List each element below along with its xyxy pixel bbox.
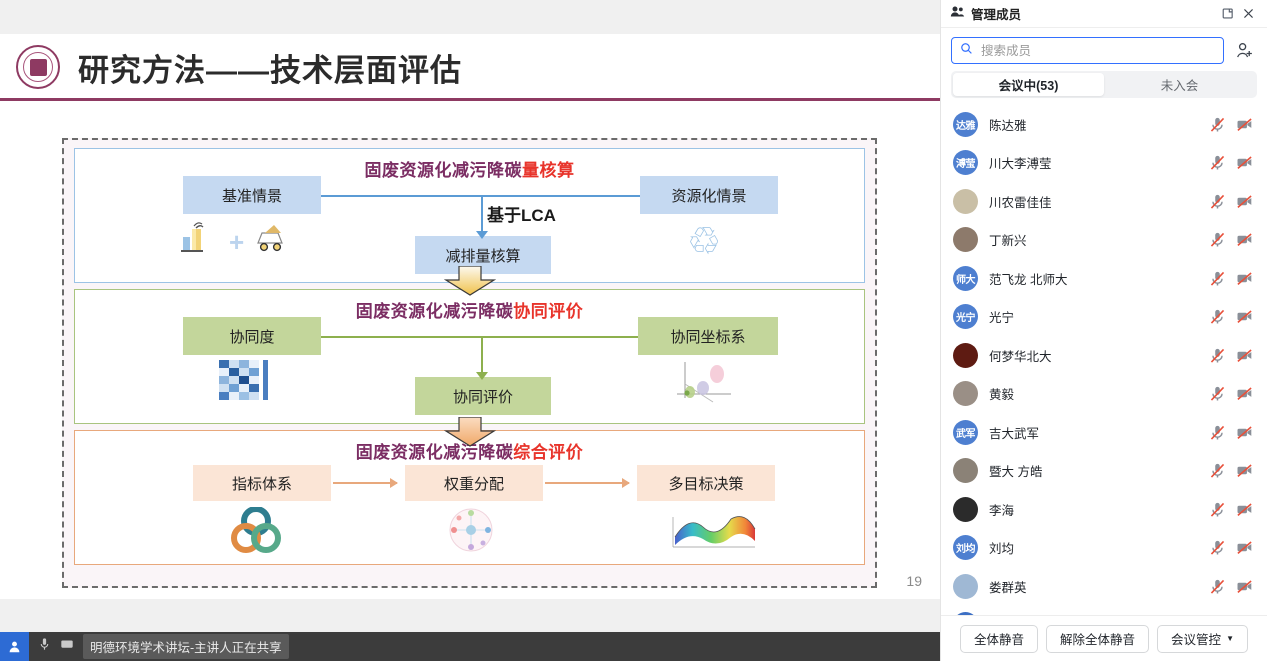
search-box[interactable]: [951, 37, 1224, 64]
participant-row[interactable]: 暨大 方皓: [941, 452, 1267, 491]
participants-panel: 管理成员: [940, 0, 1267, 661]
connector-arrow-1: [444, 266, 496, 296]
participant-row[interactable]: 光宁光宁: [941, 298, 1267, 337]
participant-controls: [1209, 347, 1253, 364]
participant-controls: [1209, 539, 1253, 556]
avatar: 武军: [953, 420, 978, 445]
participant-row[interactable]: 武军吉大武军: [941, 413, 1267, 452]
panel-header: 管理成员: [941, 0, 1267, 28]
avatar: [953, 497, 978, 522]
microphone-muted-icon[interactable]: [1209, 501, 1226, 518]
node-baseline-scenario: 基准情景: [183, 176, 321, 214]
participant-controls: [1209, 308, 1253, 325]
node-multi-objective-decision: 多目标决策: [637, 465, 775, 501]
camera-off-icon[interactable]: [1236, 308, 1253, 325]
section3-arrow-1: [333, 482, 397, 484]
camera-off-icon[interactable]: [1236, 578, 1253, 595]
participant-name: 李海: [989, 500, 1209, 519]
participant-name: 何梦华北大: [989, 346, 1209, 365]
microphone-muted-icon[interactable]: [1209, 385, 1226, 402]
participant-controls: [1209, 385, 1253, 402]
meeting-window: 研究方法——技术层面评估 固废资源化减污降碳量核算 基准情景 资源化情景 减排量…: [0, 0, 1267, 661]
add-person-icon[interactable]: [1231, 38, 1257, 64]
avatar: [953, 381, 978, 406]
microphone-muted-icon[interactable]: [1209, 231, 1226, 248]
chevron-down-icon: ▼: [1226, 635, 1234, 643]
section2-vertical-connector: [481, 336, 483, 377]
participant-name: 光宁: [989, 307, 1209, 326]
participant-row[interactable]: 达雅陈达雅: [941, 105, 1267, 144]
participant-row[interactable]: [941, 606, 1267, 616]
panel-title: 管理成员: [971, 4, 1021, 23]
search-input[interactable]: [979, 43, 1215, 59]
camera-off-icon[interactable]: [1236, 231, 1253, 248]
panel-footer: 全体静音 解除全体静音 会议管控 ▼: [941, 615, 1267, 661]
node-synergy-degree: 协同度: [183, 317, 321, 355]
pop-out-icon[interactable]: [1218, 4, 1238, 24]
node-recycling-scenario: 资源化情景: [640, 176, 778, 214]
microphone-muted-icon[interactable]: [1209, 154, 1226, 171]
slide-header: 研究方法——技术层面评估: [0, 34, 940, 100]
avatar: 光宁: [953, 304, 978, 329]
avatar: 刘均: [953, 535, 978, 560]
participant-controls: [1209, 578, 1253, 595]
section1-vertical-connector: [481, 195, 483, 236]
camera-off-icon[interactable]: [1236, 501, 1253, 518]
participant-name: 范飞龙 北师大: [989, 269, 1209, 288]
node-weight-allocation: 权重分配: [405, 465, 543, 501]
participant-row[interactable]: 娄群英: [941, 567, 1267, 606]
avatar: 溥莹: [953, 150, 978, 175]
microphone-muted-icon[interactable]: [1209, 308, 1226, 325]
node-synergy-coordinate-system: 协同坐标系: [638, 317, 778, 355]
participant-name: 陈达雅: [989, 115, 1209, 134]
connector-arrow-2: [444, 417, 496, 447]
slide-page-number: 19: [906, 573, 922, 589]
camera-off-icon[interactable]: [1236, 539, 1253, 556]
user-icon[interactable]: [0, 632, 29, 661]
microphone-muted-icon[interactable]: [1209, 424, 1226, 441]
participant-row[interactable]: 丁新兴: [941, 221, 1267, 260]
avatar: 师大: [953, 266, 978, 291]
participant-controls: [1209, 231, 1253, 248]
participant-controls: [1209, 154, 1253, 171]
shared-screen-area: 研究方法——技术层面评估 固废资源化减污降碳量核算 基准情景 资源化情景 减排量…: [0, 0, 940, 661]
meeting-control-label: 会议管控: [1171, 629, 1221, 648]
participant-row[interactable]: 何梦华北大: [941, 336, 1267, 375]
participant-controls: [1209, 501, 1253, 518]
microphone-muted-icon[interactable]: [1209, 539, 1226, 556]
heatmap-matrix-icon: [217, 358, 275, 411]
page-title: 研究方法——技术层面评估: [78, 45, 462, 90]
participant-list[interactable]: 达雅陈达雅溥莹川大李溥莹川农雷佳佳丁新兴师大范飞龙 北师大光宁光宁何梦华北大黄毅…: [941, 102, 1267, 615]
slide-canvas: 研究方法——技术层面评估 固废资源化减污降碳量核算 基准情景 资源化情景 减排量…: [0, 34, 940, 599]
node-synergy-assessment: 协同评价: [415, 377, 551, 415]
microphone-muted-icon[interactable]: [1209, 116, 1226, 133]
recycle-icon: ♲: [687, 223, 721, 261]
section3-arrow-2: [545, 482, 629, 484]
participant-row[interactable]: 溥莹川大李溥莹: [941, 144, 1267, 183]
participant-name: 川大李溥莹: [989, 153, 1209, 172]
participant-row[interactable]: 川农雷佳佳: [941, 182, 1267, 221]
unmute-all-button[interactable]: 解除全体静音: [1046, 625, 1149, 653]
edge-label-lca: 基于LCA: [487, 201, 556, 226]
participant-row[interactable]: 刘均刘均: [941, 529, 1267, 568]
avatar: [953, 612, 978, 615]
avatar: [953, 343, 978, 368]
camera-off-icon[interactable]: [1236, 462, 1253, 479]
participant-name: 川农雷佳佳: [989, 192, 1209, 211]
camera-off-icon[interactable]: [1236, 424, 1253, 441]
surface-3d-plot-icon: [665, 507, 761, 558]
mute-all-button[interactable]: 全体静音: [960, 625, 1038, 653]
camera-off-icon[interactable]: [1236, 385, 1253, 402]
avatar: [953, 574, 978, 599]
participant-controls: [1209, 462, 1253, 479]
participant-name: 吉大武军: [989, 423, 1209, 442]
section1-arrowhead: [476, 231, 488, 239]
microphone-muted-icon[interactable]: [1209, 462, 1226, 479]
camera-off-icon[interactable]: [1236, 347, 1253, 364]
section2-arrowhead: [476, 372, 488, 380]
microphone-icon[interactable]: [38, 637, 51, 656]
venn-rings-icon: [230, 507, 282, 558]
screen-share-icon[interactable]: [60, 638, 74, 656]
camera-off-icon[interactable]: [1236, 154, 1253, 171]
diagram-frame: 固废资源化减污降碳量核算 基准情景 资源化情景 减排量核算 基于LCA: [62, 138, 877, 588]
close-icon[interactable]: [1238, 4, 1258, 24]
microphone-muted-icon[interactable]: [1209, 270, 1226, 287]
nankai-university-seal-icon: [16, 45, 60, 89]
participant-name: 娄群英: [989, 577, 1209, 596]
sharing-status-label: 明德环境学术讲坛-主讲人正在共享: [83, 634, 289, 659]
taskbar: 明德环境学术讲坛-主讲人正在共享: [0, 632, 940, 661]
microphone-muted-icon[interactable]: [1209, 347, 1226, 364]
participant-controls: [1209, 193, 1253, 210]
avatar: [953, 227, 978, 252]
tab-in-meeting[interactable]: 会议中(53): [953, 73, 1104, 96]
people-icon: [950, 5, 965, 23]
tab-not-joined[interactable]: 未入会: [1104, 73, 1255, 96]
section2-horizontal-connector: [321, 336, 638, 338]
search-icon: [960, 42, 973, 60]
avatar: 达雅: [953, 112, 978, 137]
section-comprehensive-evaluation: 固废资源化减污降碳综合评价 指标体系 权重分配 多目标决策: [74, 430, 865, 565]
participant-row[interactable]: 黄毅: [941, 375, 1267, 414]
factory-plus-mining-cart-icon: +: [179, 221, 288, 253]
node-indicator-system: 指标体系: [193, 465, 331, 501]
participant-controls: [1209, 424, 1253, 441]
camera-off-icon[interactable]: [1236, 270, 1253, 287]
bubble-scatter-plot-icon: [673, 358, 735, 411]
participant-row[interactable]: 李海: [941, 490, 1267, 529]
network-circle-icon: [447, 507, 495, 558]
participant-tabs: 会议中(53) 未入会: [951, 71, 1257, 98]
avatar: [953, 189, 978, 214]
search-row: [941, 28, 1267, 71]
participant-name: 黄毅: [989, 384, 1209, 403]
participant-name: 刘均: [989, 538, 1209, 557]
participant-name: 暨大 方皓: [989, 461, 1209, 480]
participant-controls: [1209, 116, 1253, 133]
participant-controls: [1209, 270, 1253, 287]
camera-off-icon[interactable]: [1236, 116, 1253, 133]
section-quantification: 固废资源化减污降碳量核算 基准情景 资源化情景 减排量核算 基于LCA: [74, 148, 865, 283]
participant-name: 丁新兴: [989, 230, 1209, 249]
participant-row[interactable]: 师大范飞龙 北师大: [941, 259, 1267, 298]
microphone-muted-icon[interactable]: [1209, 193, 1226, 210]
section-synergy-evaluation: 固废资源化减污降碳协同评价 协同度 协同坐标系 协同评价: [74, 289, 865, 424]
title-divider: [0, 98, 940, 101]
microphone-muted-icon[interactable]: [1209, 578, 1226, 595]
avatar: [953, 458, 978, 483]
camera-off-icon[interactable]: [1236, 193, 1253, 210]
meeting-control-button[interactable]: 会议管控 ▼: [1157, 625, 1248, 653]
